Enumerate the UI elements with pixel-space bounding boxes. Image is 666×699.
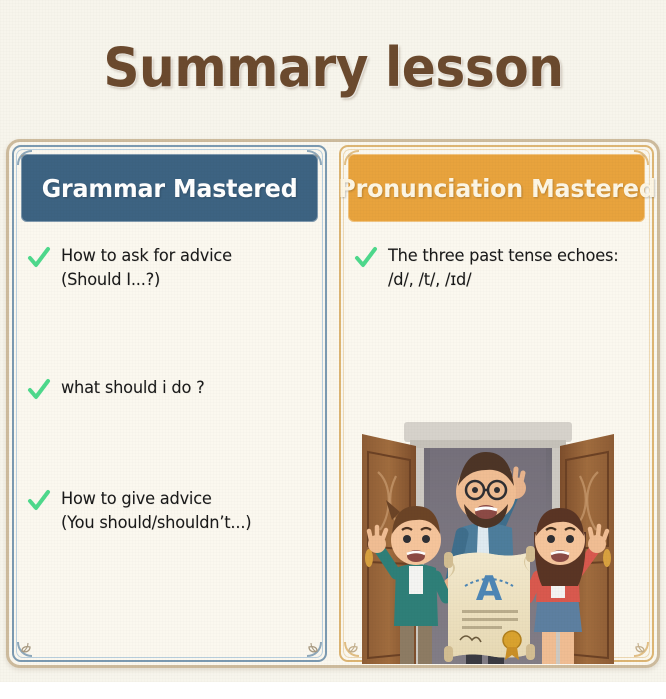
list-item-text: what should i do ?: [61, 376, 204, 400]
check-icon: [26, 488, 52, 514]
list-item-line1: How to give advice: [61, 489, 212, 509]
list-item: How to ask for advice (Should I...?): [26, 244, 313, 292]
bottom-strip: [0, 682, 666, 699]
panel-header-grammar: Grammar Mastered: [21, 154, 318, 222]
list-item-line1: The three past tense echoes:: [388, 246, 618, 266]
columns-container: Grammar Mastered How to ask for advice (…: [10, 143, 656, 664]
slide-canvas: Summary lesson: [0, 0, 666, 682]
page-title: Summary lesson: [103, 36, 563, 99]
bullet-list-grammar: How to ask for advice (Should I...?) wha…: [10, 222, 329, 536]
list-item-text: How to give advice (You should/shouldn’t…: [61, 487, 251, 535]
list-item: what should i do ?: [26, 376, 313, 403]
title-area: Summary lesson: [0, 0, 666, 135]
svg-text:A: A: [476, 569, 503, 609]
panel-grammar: Grammar Mastered How to ask for advice (…: [10, 143, 329, 664]
panel-pronunciation: Pronunciation Mastered The three past te…: [337, 143, 656, 664]
list-item: The three past tense echoes: /d/, /t/, /…: [353, 244, 640, 292]
check-icon: [26, 377, 52, 403]
list-item-line2: /d/, /t/, /ɪd/: [388, 268, 618, 292]
list-item-line1: what should i do ?: [61, 378, 204, 398]
check-icon: [353, 245, 379, 271]
check-icon: [26, 245, 52, 271]
panel-header-pronunciation: Pronunciation Mastered: [348, 154, 645, 222]
list-item-text: How to ask for advice (Should I...?): [61, 244, 232, 292]
list-item-line2: (You should/shouldn’t...): [61, 511, 251, 535]
corner-flourish-icon: [291, 626, 325, 660]
panel-header-label: Grammar Mastered: [42, 174, 298, 203]
bullet-list-pronunciation: The three past tense echoes: /d/, /t/, /…: [337, 222, 656, 292]
corner-flourish-icon: [14, 626, 48, 660]
teacher-and-students-illustration: A: [352, 400, 624, 664]
list-item-line1: How to ask for advice: [61, 246, 232, 266]
list-item: How to give advice (You should/shouldn’t…: [26, 487, 313, 535]
panel-header-label: Pronunciation Mastered: [338, 174, 655, 203]
list-item-text: The three past tense echoes: /d/, /t/, /…: [388, 244, 618, 292]
list-item-line2: (Should I...?): [61, 268, 232, 292]
